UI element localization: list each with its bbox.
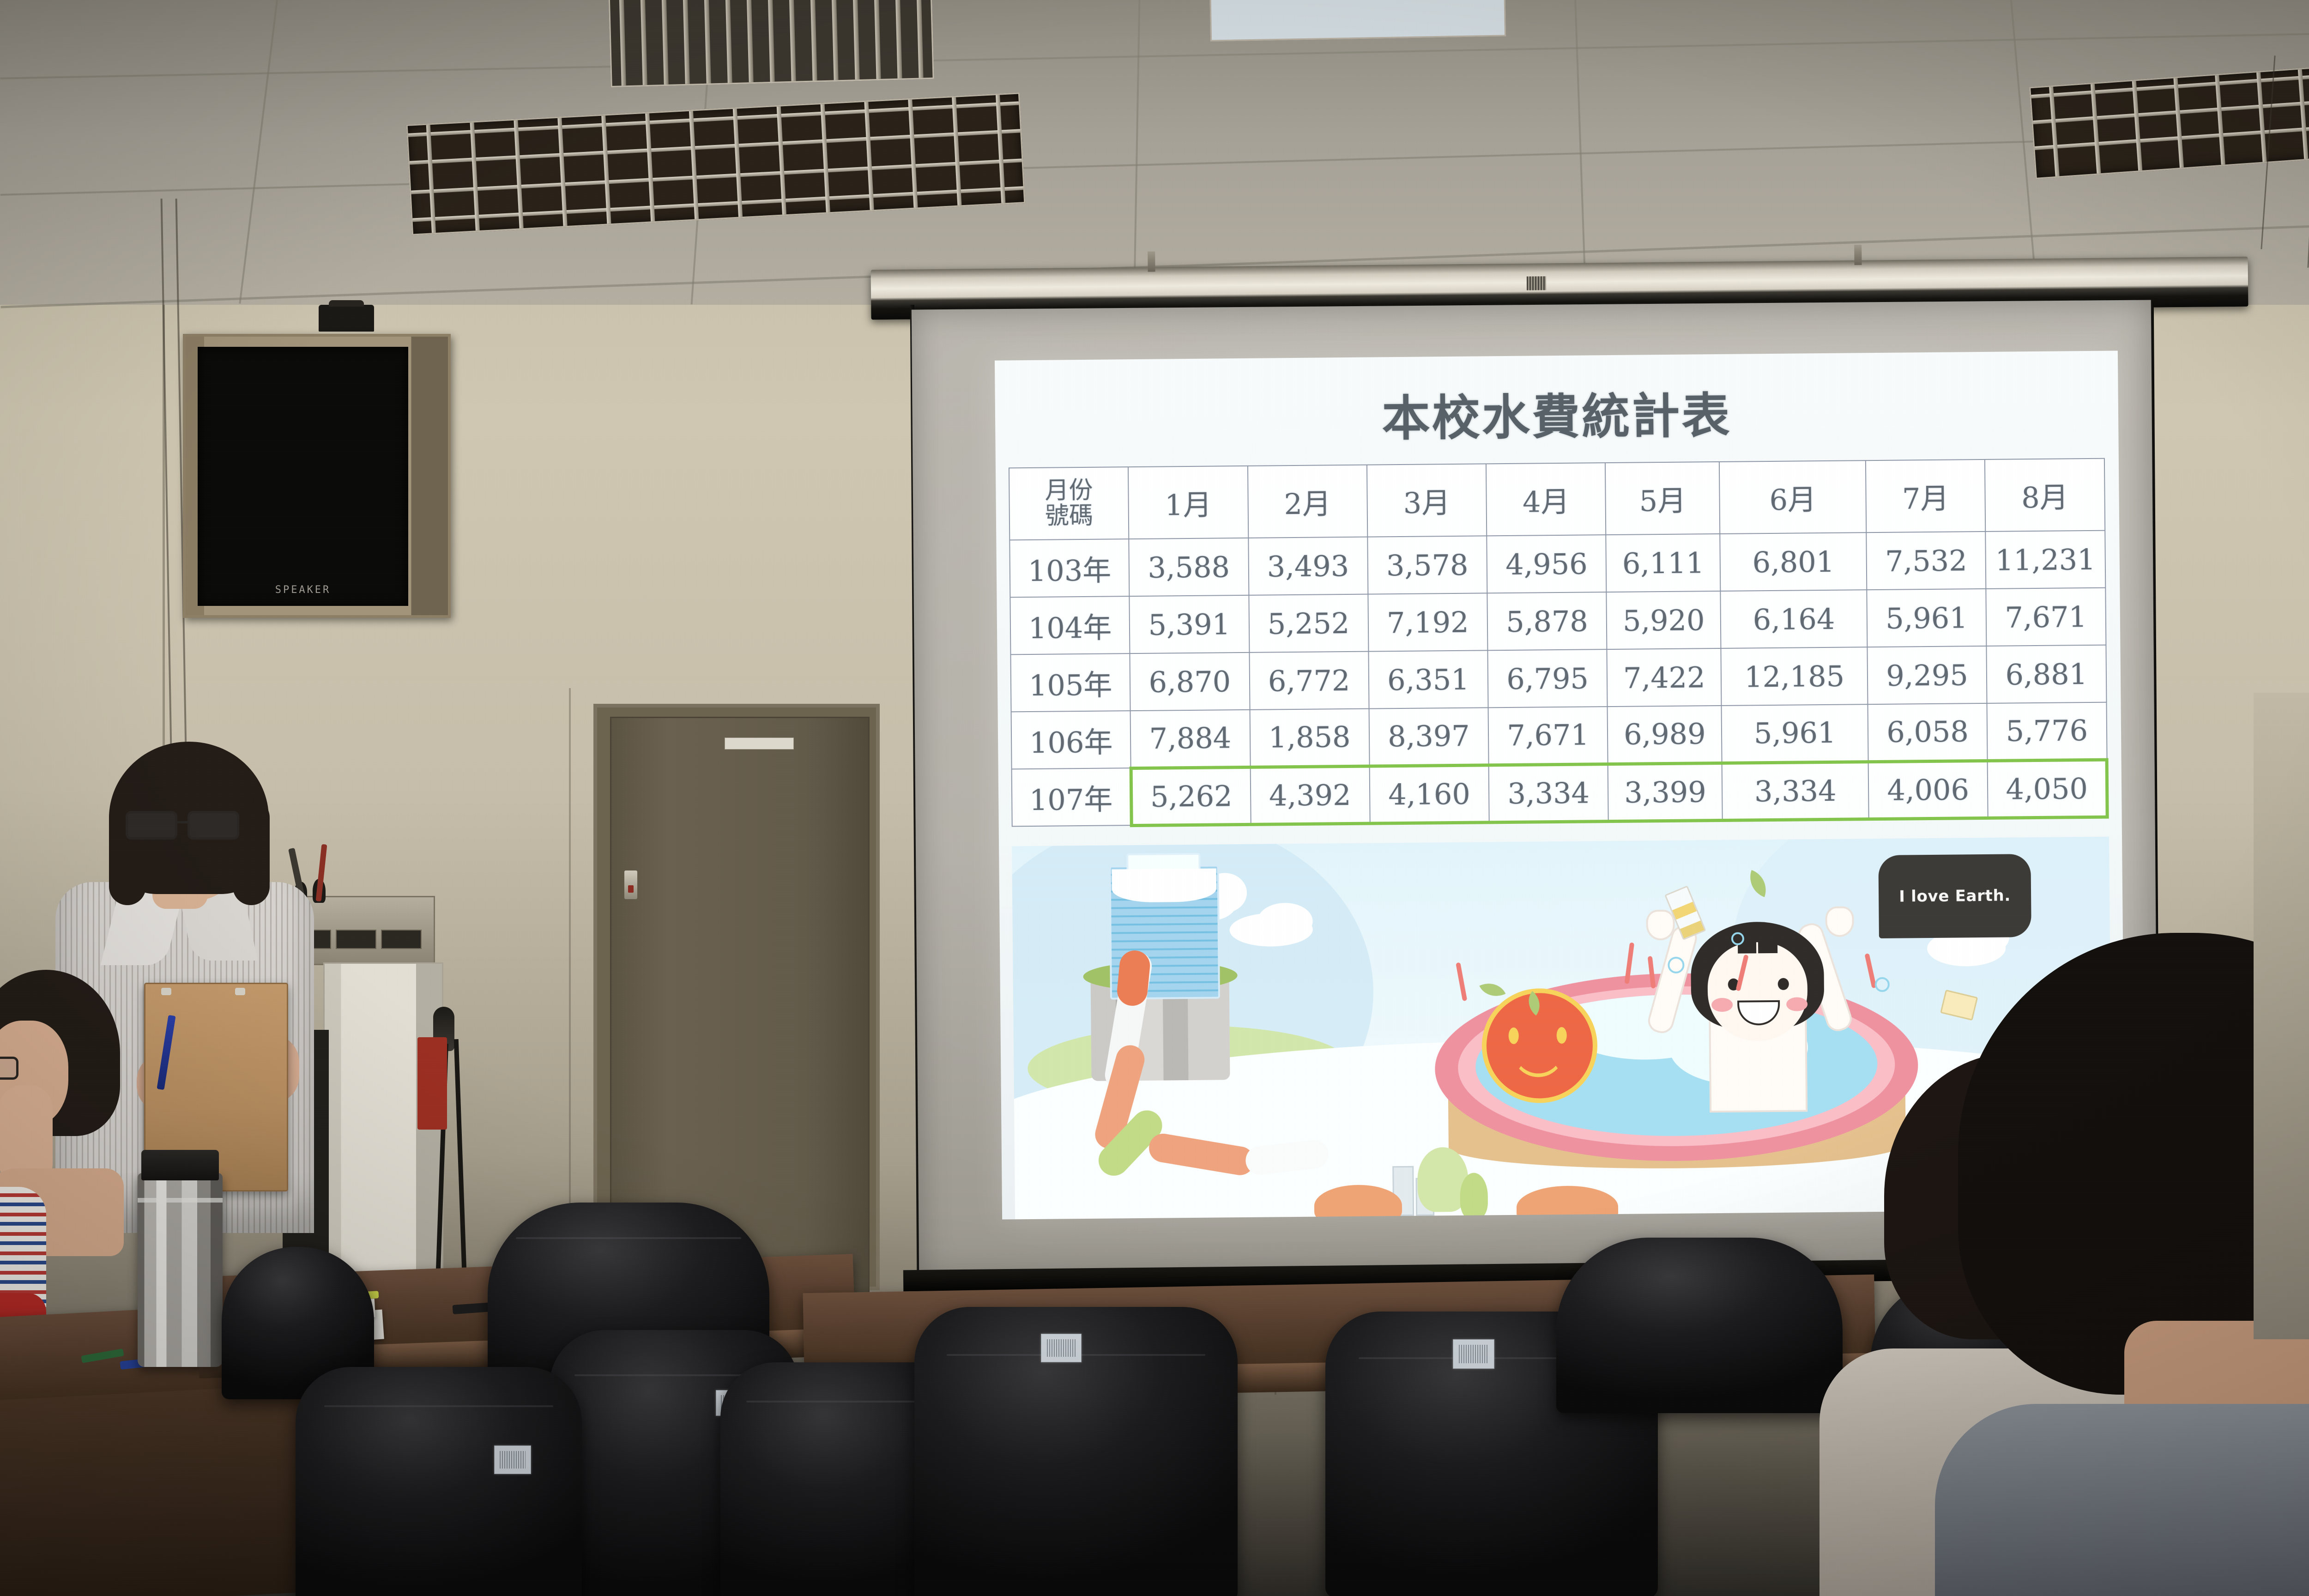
table-cell: 3,588: [1129, 538, 1249, 596]
speech-bubble-text: I love Earth.: [1899, 886, 2011, 906]
row-year-label: 105年: [1010, 653, 1130, 712]
chair-front-left[interactable]: [296, 1367, 582, 1596]
table-col-header: 6月: [1719, 460, 1866, 534]
table-corner-cell: 月份 號碼: [1009, 467, 1129, 540]
attendee-right-front-person: [1907, 933, 2309, 1596]
row-year-label: 104年: [1010, 596, 1130, 654]
table-header-row: 月份 號碼 1月 2月 3月 4月 5月 6月 7月 8月: [1009, 459, 2105, 540]
presenter-glasses-bridge: [177, 821, 187, 823]
table-cell: 3,399: [1608, 763, 1723, 821]
table-cell: 6,881: [1987, 645, 2106, 703]
table-row-highlighted: 107年 5,262 4,392 4,160 3,334 3,399 3,334…: [1012, 760, 2107, 827]
table-col-header: 7月: [1866, 459, 1986, 532]
table-cell: 7,671: [1986, 588, 2106, 646]
table-cell: 6,164: [1721, 590, 1868, 648]
table-cell: 12,185: [1721, 647, 1868, 706]
table-row: 106年 7,884 1,858 8,397 7,671 6,989 5,961…: [1011, 702, 2107, 769]
thermos-bottle[interactable]: [138, 1173, 223, 1367]
speaker-logo: SPEAKER: [198, 584, 408, 596]
table-col-header: 2月: [1247, 465, 1367, 538]
table-cell: 4,392: [1250, 766, 1370, 824]
attendee-left-top: [0, 1187, 46, 1307]
child-head: [1707, 942, 1808, 1041]
corner-label-line1: 月份: [1009, 478, 1128, 504]
wall-seam-door: [569, 688, 571, 1279]
table-cell: 4,050: [1988, 760, 2107, 818]
table-cell: 7,884: [1130, 710, 1250, 768]
chair-asset-tag: [1041, 1334, 1082, 1362]
right-wall: [2254, 693, 2309, 1339]
chair-asset-tag: [494, 1445, 531, 1474]
slide-title: 本校水費統計表: [995, 373, 2118, 452]
table-cell: 4,956: [1487, 535, 1606, 593]
table-row: 105年 6,870 6,772 6,351 6,795 7,422 12,18…: [1010, 645, 2106, 712]
table-cell: 6,989: [1608, 706, 1722, 764]
table-cell: 5,252: [1249, 594, 1368, 653]
ceiling-air-vent: [608, 0, 934, 87]
table-cell: 5,961: [1867, 589, 1986, 647]
room-scene: SPEAKER 本校水費統計表 月份: [0, 0, 2309, 1596]
table-cell: 5,920: [1607, 591, 1721, 649]
table-cell: 6,351: [1368, 650, 1488, 708]
table-cell: 11,231: [1985, 531, 2105, 589]
table-cell: 1,858: [1250, 709, 1369, 767]
table-cell: 6,111: [1606, 534, 1721, 592]
ceiling-panel: [1209, 0, 1506, 42]
table-col-header: 1月: [1128, 466, 1248, 539]
microphone-clip: [417, 1037, 447, 1130]
table-cell: 7,422: [1607, 648, 1722, 707]
table-cell: 4,160: [1369, 765, 1489, 823]
table-cell: 5,878: [1487, 592, 1607, 650]
table-cell: 4,006: [1868, 761, 1988, 819]
presenter-glasses-left-lens: [126, 811, 177, 840]
chair-asset-tag: [1453, 1339, 1494, 1369]
table-cell: 3,493: [1248, 537, 1368, 595]
row-year-label: 106年: [1011, 711, 1131, 769]
table-cell: 6,795: [1487, 649, 1607, 707]
presenter-glasses-right-lens: [187, 811, 239, 840]
chair-center[interactable]: [914, 1307, 1238, 1596]
door-handle[interactable]: [624, 871, 637, 899]
table-cell: 6,058: [1868, 703, 1987, 762]
row-year-label: 107年: [1012, 768, 1131, 826]
table-cell: 9,295: [1867, 646, 1987, 704]
table-col-header: 3月: [1367, 464, 1487, 537]
door-room-label: [725, 738, 794, 750]
table-col-header: 4月: [1486, 463, 1606, 536]
water-fee-table: 月份 號碼 1月 2月 3月 4月 5月 6月 7月 8月 103年 3,588: [1009, 458, 2109, 828]
table-cell: 5,776: [1987, 702, 2107, 761]
table-cell: 7,192: [1368, 593, 1487, 651]
table-cell: 7,671: [1488, 707, 1608, 765]
table-row: 104年 5,391 5,252 7,192 5,878 5,920 6,164…: [1010, 588, 2105, 655]
table-cell: 3,334: [1489, 764, 1608, 822]
table-cell: 3,578: [1367, 536, 1487, 594]
table-cell: 5,391: [1130, 595, 1249, 653]
attendee-left-glasses: [0, 1057, 18, 1080]
speech-bubble: I love Earth.: [1878, 854, 2031, 938]
table-cell: 6,772: [1249, 652, 1369, 710]
table-cell: 5,961: [1722, 704, 1868, 763]
speaker-grille: [198, 347, 408, 606]
table-row: 103年 3,588 3,493 3,578 4,956 6,111 6,801…: [1009, 531, 2105, 598]
row-year-label: 103年: [1009, 539, 1129, 597]
table-cell: 7,532: [1866, 532, 1986, 590]
table-cell: 6,801: [1720, 532, 1867, 591]
attendee-right-front-shirt: [1935, 1404, 2309, 1596]
ceiling-camera: [319, 305, 374, 332]
thermos-cap[interactable]: [141, 1150, 219, 1180]
table-cell: 5,262: [1131, 767, 1251, 825]
table-cell: 3,334: [1722, 762, 1869, 820]
table-col-header: 8月: [1985, 459, 2105, 532]
table-cell: 6,870: [1130, 653, 1250, 711]
wall-speaker-cabinet: SPEAKER: [183, 334, 451, 618]
table-cell: 8,397: [1369, 707, 1488, 766]
table-col-header: 5月: [1605, 462, 1720, 535]
corner-label-line2: 號碼: [1010, 503, 1129, 529]
